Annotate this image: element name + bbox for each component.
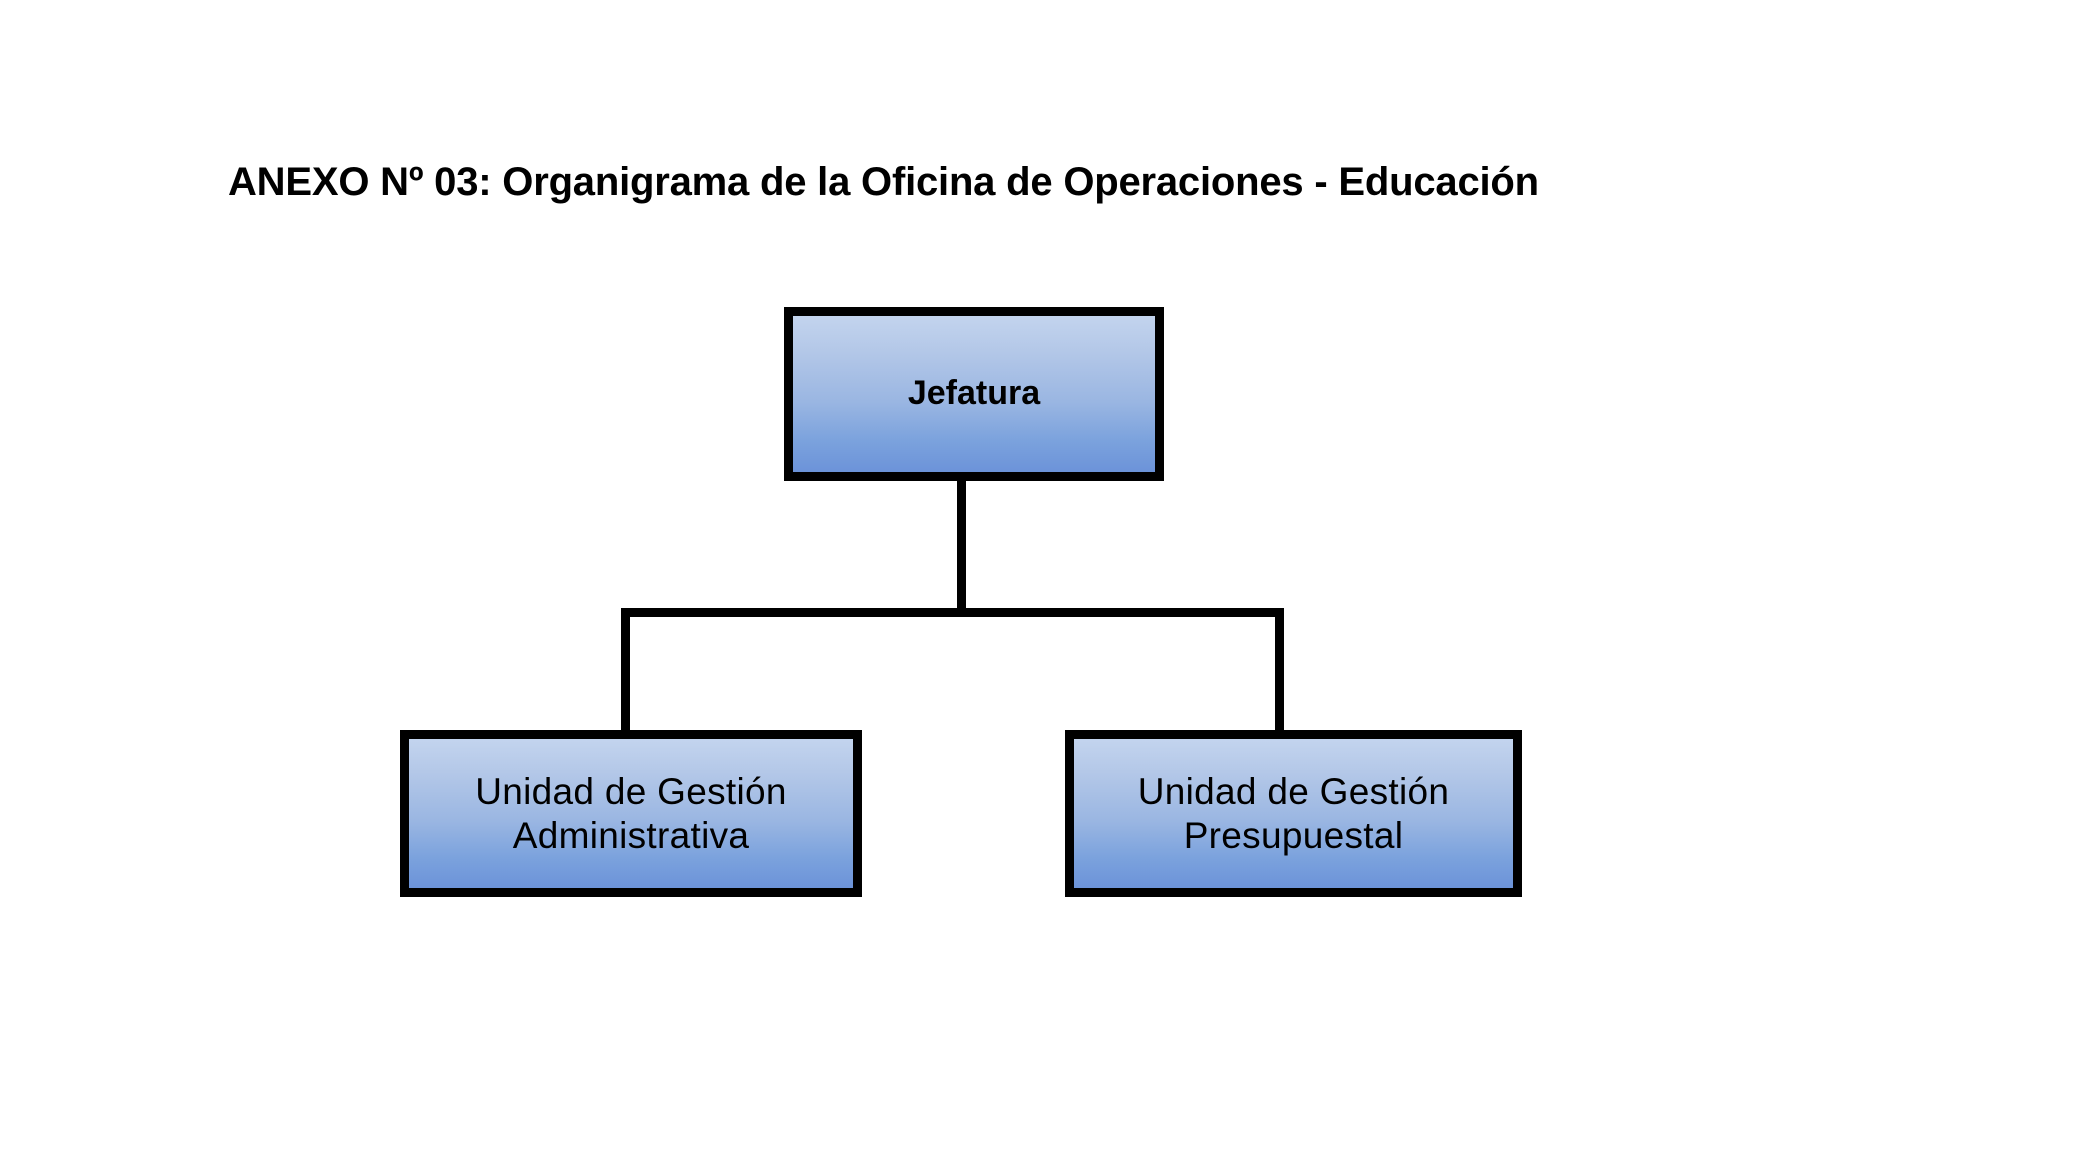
organigrama-page: ANEXO Nº 03: Organigrama de la Oficina d… <box>0 0 2080 1172</box>
org-node-unidad-gestion-administrativa-label: Unidad de Gestión Administrativa <box>409 770 853 857</box>
page-title: ANEXO Nº 03: Organigrama de la Oficina d… <box>228 162 1539 202</box>
org-node-unidad-gestion-presupuestal[interactable]: Unidad de Gestión Presupuestal <box>1065 730 1522 897</box>
connector-drop-left <box>621 608 630 734</box>
connector-drop-right <box>1275 608 1284 734</box>
connector-root-stem <box>957 478 966 615</box>
connector-horizontal-bus <box>621 608 1284 617</box>
org-node-jefatura-label: Jefatura <box>793 374 1155 413</box>
org-node-unidad-gestion-presupuestal-label: Unidad de Gestión Presupuestal <box>1074 770 1513 857</box>
org-node-unidad-gestion-administrativa[interactable]: Unidad de Gestión Administrativa <box>400 730 862 897</box>
org-node-jefatura[interactable]: Jefatura <box>784 307 1164 481</box>
